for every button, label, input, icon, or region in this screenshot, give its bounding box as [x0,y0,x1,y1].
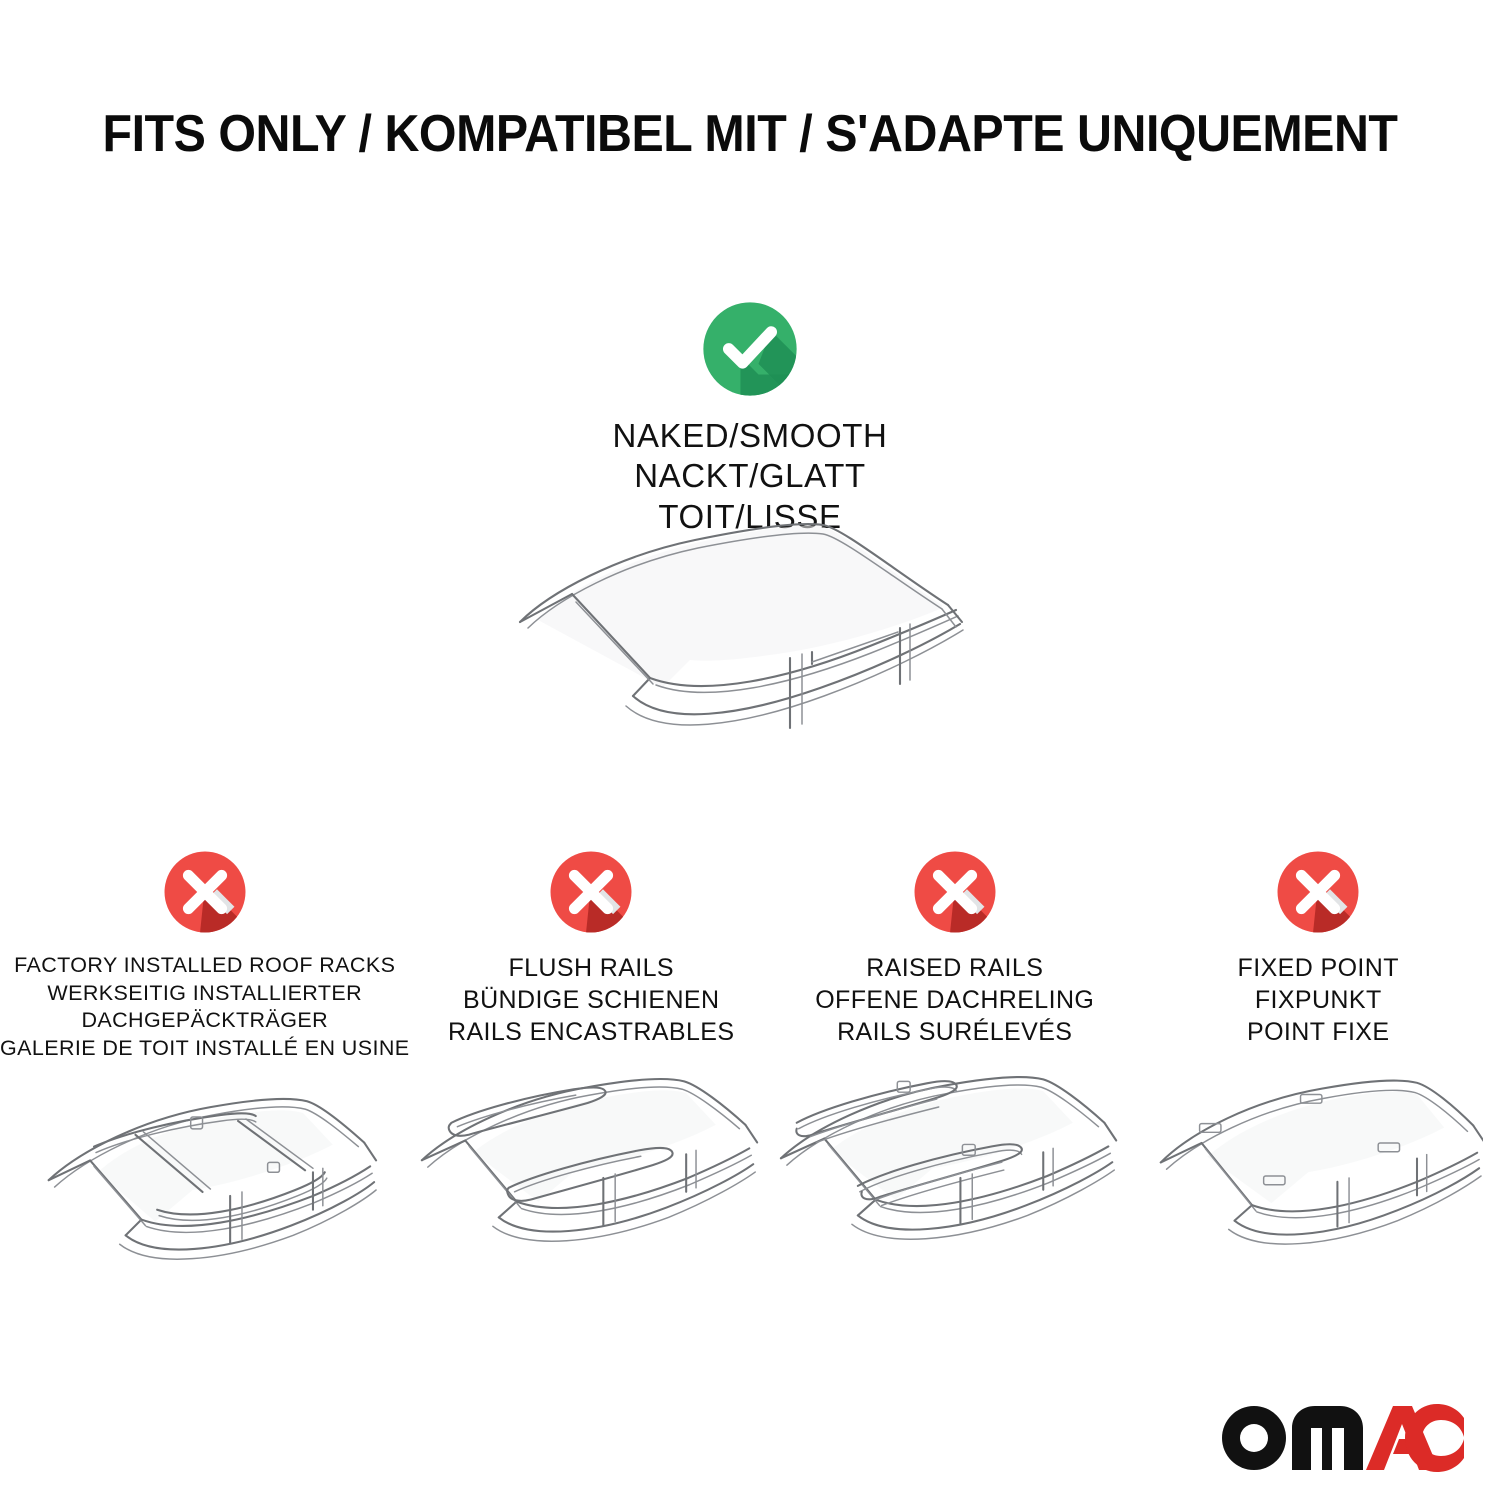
caption-line-de-1: WERKSEITIG INSTALLIERTER [0,980,409,1008]
car-roof-flush-rails-illustration [409,1066,773,1296]
x-circle-icon [1272,846,1364,938]
compatible-caption-de: NACKT/GLATT [0,456,1500,496]
omac-logo [1216,1398,1464,1474]
incompatible-caption-flush-rails: FLUSH RAILS BÜNDIGE SCHIENEN RAILS ENCAS… [448,952,734,1048]
caption-line-en: FLUSH RAILS [448,952,734,984]
caption-line-en: FACTORY INSTALLED ROOF RACKS [0,952,409,980]
caption-line-fr: POINT FIXE [1238,1016,1399,1048]
caption-line-de-2: DACHGEPÄCKTRÄGER [0,1007,409,1035]
incompatible-item-raised-rails: RAISED RAILS OFFENE DACHRELING RAILS SUR… [773,846,1137,1296]
car-roof-raised-rails-illustration [773,1066,1137,1296]
x-circle-icon [159,846,251,938]
car-roof-fixed-point-illustration [1136,1066,1500,1296]
incompatible-caption-factory-rack: FACTORY INSTALLED ROOF RACKS WERKSEITIG … [0,952,409,1062]
caption-line-en: FIXED POINT [1238,952,1399,984]
caption-line-de-1: BÜNDIGE SCHIENEN [448,984,734,1016]
incompatible-item-factory-rack: FACTORY INSTALLED ROOF RACKS WERKSEITIG … [0,846,409,1310]
x-circle-icon [545,846,637,938]
car-roof-naked-smooth-illustration [490,510,1010,810]
caption-line-de-1: FIXPUNKT [1238,984,1399,1016]
page-title: FITS ONLY / KOMPATIBEL MIT / S'ADAPTE UN… [53,104,1448,164]
incompatible-caption-fixed-point: FIXED POINT FIXPUNKT POINT FIXE [1238,952,1399,1048]
car-roof-factory-rack-illustration [0,1080,409,1310]
incompatible-item-fixed-point: FIXED POINT FIXPUNKT POINT FIXE [1136,846,1500,1296]
caption-line-en: RAISED RAILS [815,952,1094,984]
caption-line-de-1: OFFENE DACHRELING [815,984,1094,1016]
check-circle-icon [697,296,803,402]
compatible-section: NAKED/SMOOTH NACKT/GLATT TOIT/LISSE [0,296,1500,537]
incompatible-section: FACTORY INSTALLED ROOF RACKS WERKSEITIG … [0,846,1500,1310]
compatible-caption-en: NAKED/SMOOTH [0,416,1500,456]
caption-line-fr: RAILS SURÉLEVÉS [815,1016,1094,1048]
incompatible-item-flush-rails: FLUSH RAILS BÜNDIGE SCHIENEN RAILS ENCAS… [409,846,773,1296]
caption-line-fr: RAILS ENCASTRABLES [448,1016,734,1048]
x-circle-icon [909,846,1001,938]
incompatible-caption-raised-rails: RAISED RAILS OFFENE DACHRELING RAILS SUR… [815,952,1094,1048]
caption-line-fr: GALERIE DE TOIT INSTALLÉ EN USINE [0,1035,409,1063]
